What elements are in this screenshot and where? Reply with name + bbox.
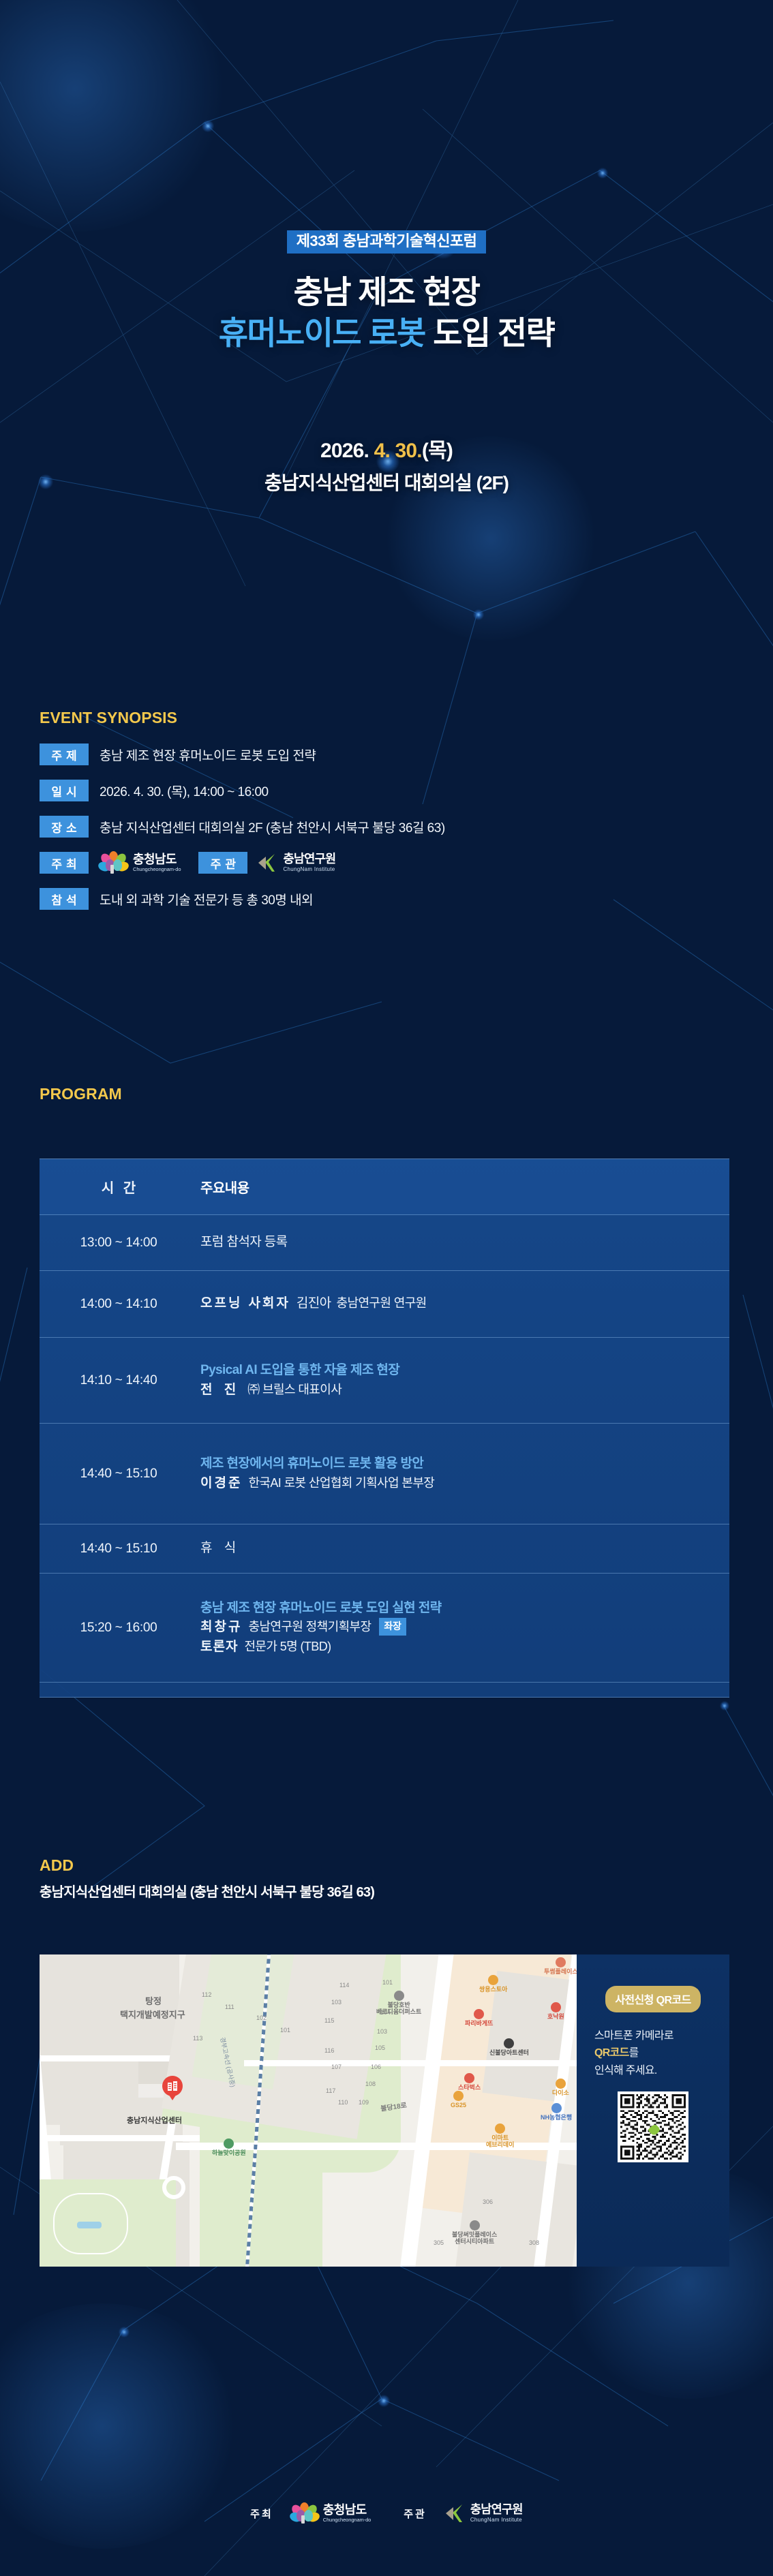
map-block-number: 111 — [225, 2004, 234, 2010]
synopsis-tag-subject: 주제 — [40, 743, 89, 765]
synopsis-row-place: 장소 충남 지식산업센터 대회의실 2F (충남 천안시 서북구 불당 36길 … — [40, 815, 735, 838]
list-item[interactable]: 쌍용스토아 — [479, 1975, 507, 1993]
poi-label: NH농협은행 — [541, 2114, 572, 2121]
program-time: 14:40 ~ 15:10 — [40, 1424, 198, 1524]
list-item[interactable]: 신불당아트센터 — [489, 2038, 529, 2056]
host-logo-en: Chungcheongnam-do — [133, 867, 181, 872]
program-line: 오프닝사회자김진아충남연구원 연구원 — [200, 1294, 725, 1314]
venue-text: 충남지식산업센터 대회의실 (2F) — [0, 470, 773, 496]
qr-instruction-line1: 스마트폰 카메라로 — [594, 2027, 729, 2044]
map-block-number: 306 — [483, 2198, 493, 2205]
synopsis-row-subject: 주제 충남 제조 현장 휴머노이드 로봇 도입 전략 — [40, 743, 735, 766]
date-year: 2026. — [320, 440, 374, 462]
map-block-number: 101 — [280, 2027, 290, 2034]
map-block-number: 103 — [377, 2028, 387, 2035]
program-speaker: 전 진㈜ 브릴스 대표이사 — [200, 1381, 725, 1400]
program-speaker-affiliation: ㈜ 브릴스 대표이사 — [247, 1383, 342, 1396]
poster-footer: 주최 충청남도 Chungcheongnam-do 주관 — [0, 2502, 773, 2524]
program-affiliation: 충남연구원 연구원 — [337, 1296, 427, 1310]
poi-label: 불당써밋플레이스센터시티아파트 — [452, 2231, 497, 2245]
host-logo-kr: 충청남도 — [133, 853, 181, 865]
table-row: 14:00 ~ 14:10 오프닝사회자김진아충남연구원 연구원 — [40, 1271, 729, 1338]
shop-icon — [556, 2079, 566, 2089]
poster-header: 제33회 충남과학기술혁신포럼 — [0, 230, 773, 254]
program-table-spacer-row — [40, 1683, 729, 1698]
chungnam-institute-mark-icon — [444, 2503, 465, 2524]
map-road-h2 — [40, 2135, 217, 2141]
map-block-number: 107 — [331, 2064, 342, 2070]
ci-mark-svg — [257, 853, 277, 873]
map-block-number: 110 — [338, 2099, 348, 2106]
map-block-number: 101 — [382, 1979, 393, 1986]
list-item[interactable]: 불당써밋플레이스센터시티아파트 — [452, 2220, 497, 2245]
program-time: 14:00 ~ 14:10 — [40, 1271, 198, 1337]
poi-label: 불당호반베르디움더퍼스트 — [376, 2002, 421, 2016]
program-topic: 제조 현장에서의 휴머노이드 로봇 활용 방안 — [200, 1454, 725, 1474]
bg-node-5 — [473, 609, 484, 620]
store-icon — [488, 1975, 498, 1985]
bg-node-9 — [119, 2327, 130, 2337]
program-col-header-time: 시 간 — [40, 1159, 198, 1214]
restaurant-icon — [551, 2002, 561, 2012]
qr-instruction-line3: 인식해 주세요. — [594, 2062, 729, 2079]
program-panel: 토론자전문가 5명 (TBD) — [200, 1638, 725, 1657]
map-block-number: 308 — [529, 2239, 539, 2246]
footer-host-logo-kr: 충청남도 — [323, 2504, 371, 2516]
qr-code-svg — [620, 2094, 686, 2160]
venue-map[interactable]: 탕정 택지개발예정지구 경부고속선 (공사중) 불당18로 불당18로 112 … — [40, 1954, 577, 2267]
list-item[interactable]: 하늘맞이공원 — [212, 2138, 246, 2156]
map-block-number: 112 — [202, 1991, 211, 1998]
synopsis-tag-host: 주최 — [40, 852, 89, 874]
poi-label: 호낙원 — [547, 2013, 564, 2020]
list-item[interactable]: 이마트에브리데이 — [486, 2123, 514, 2149]
title-rest: 도입 전략 — [425, 315, 554, 351]
program-content: 오프닝사회자김진아충남연구원 연구원 — [198, 1271, 729, 1337]
program-spacer-left — [40, 1683, 198, 1697]
poi-label: 쌍용스토아 — [479, 1986, 507, 1993]
map-block-number: 109 — [359, 2099, 369, 2106]
table-row: 14:40 ~ 15:10 휴 식 — [40, 1524, 729, 1574]
footer-organizer-tag: 주관 — [404, 2506, 427, 2521]
synopsis-section-title: EVENT SYNOPSIS — [40, 709, 177, 727]
qr-instruction-line2: QR코드를 — [594, 2044, 729, 2061]
map-block-number: 105 — [375, 2044, 385, 2051]
bakery-icon — [474, 2009, 484, 2019]
main-title-line1: 충남 제조 현장 — [0, 273, 773, 311]
qr-registration-panel: 사전신청 QR코드 스마트폰 카메라로 QR코드를 인식해 주세요. — [577, 1954, 729, 2267]
map-block-number: 103 — [331, 1999, 342, 2006]
footer-chungnam-institute-logo: 충남연구원 ChungNam Institute — [444, 2503, 523, 2524]
map-roundabout — [162, 2176, 185, 2199]
bg-glow-1 — [0, 0, 232, 232]
synopsis-tag-attendees: 참석 — [40, 888, 89, 910]
footer-organizer-logo-en: ChungNam Institute — [470, 2517, 523, 2523]
program-table: 시 간 주요내용 13:00 ~ 14:00 포럼 참석자 등록 14:00 ~… — [40, 1159, 729, 1698]
list-item[interactable]: 불당호반베르디움더퍼스트 — [376, 1991, 421, 2016]
venue-location-pin[interactable] — [162, 2076, 183, 2102]
date-weekday: (목) — [422, 440, 453, 462]
map-venue-label: 충남지식산업센터 — [127, 2115, 182, 2126]
synopsis-value-subject: 충남 제조 현장 휴머노이드 로봇 도입 전략 — [100, 746, 316, 764]
program-time: 14:40 ~ 15:10 — [40, 1524, 198, 1573]
program-topic: Pysical AI 도입을 통한 자율 제조 현장 — [200, 1361, 725, 1381]
coffee-icon — [464, 2073, 474, 2083]
list-item[interactable]: 스타벅스 — [458, 2073, 481, 2091]
map-block-number: 106 — [371, 2064, 381, 2070]
bank-icon — [551, 2103, 562, 2113]
poi-label: 스타벅스 — [458, 2084, 481, 2091]
map-block-number: 115 — [324, 2017, 334, 2024]
flower-icon — [291, 2502, 318, 2524]
program-section-title: PROGRAM — [40, 1085, 122, 1103]
program-time: 14:10 ~ 14:40 — [40, 1338, 198, 1423]
program-content: 충남 제조 현장 휴머노이드 로봇 도입 실현 전략 최창규충남연구원 정책기획… — [198, 1574, 729, 1682]
program-topic: 충남 제조 현장 휴머노이드 로봇 도입 실현 전략 — [200, 1599, 725, 1619]
footer-host-wordmark: 충청남도 Chungcheongnam-do — [323, 2504, 371, 2523]
apartment-icon — [394, 1991, 404, 2001]
address-line: 충남지식산업센터 대회의실 (충남 천안시 서북구 불당 36길 63) — [40, 1881, 374, 1901]
pin-tip-icon — [167, 2092, 178, 2100]
poi-label: 이마트에브리데이 — [486, 2134, 514, 2149]
synopsis-tag-organizer: 주관 — [198, 852, 247, 874]
qr-keyword-suffix: 를 — [629, 2047, 639, 2059]
program-col-header-content: 주요내용 — [198, 1159, 729, 1214]
program-person: 김진아 — [297, 1296, 331, 1310]
synopsis-block: 주제 충남 제조 현장 휴머노이드 로봇 도입 전략 일시 2026. 4. 3… — [40, 743, 735, 923]
program-speaker-name: 이경준 — [200, 1476, 242, 1490]
map-area-label-1: 탕정 — [145, 1994, 162, 2007]
park-icon — [224, 2138, 234, 2149]
building-icon — [167, 2081, 179, 2091]
footer-organizer-logo-kr: 충남연구원 — [470, 2504, 523, 2516]
qr-keyword: QR코드 — [594, 2047, 629, 2059]
program-line: 휴 식 — [200, 1539, 725, 1559]
program-speaker: 최창규충남연구원 정책기획부장좌장 — [200, 1618, 725, 1638]
qr-code-image[interactable] — [618, 2091, 688, 2162]
program-speaker-name: 전 진 — [200, 1383, 240, 1397]
program-speaker: 이경준한국AI 로봇 산업협회 기획사업 본부장 — [200, 1474, 725, 1494]
chungcheongnam-do-wordmark: 충청남도 Chungcheongnam-do — [133, 853, 181, 872]
list-item[interactable]: 호낙원 — [547, 2002, 564, 2020]
bg-node-8 — [378, 2395, 390, 2407]
program-content: 제조 현장에서의 휴머노이드 로봇 활용 방안 이경준한국AI 로봇 산업협회 … — [198, 1424, 729, 1524]
event-venue: 충남지식산업센터 대회의실 (2F) — [0, 470, 773, 496]
synopsis-tag-place: 장소 — [40, 816, 89, 838]
map-block-number: 116 — [324, 2047, 334, 2054]
table-row: 14:10 ~ 14:40 Pysical AI 도입을 통한 자율 제조 현장… — [40, 1338, 729, 1424]
program-speaker-affiliation: 한국AI 로봇 산업협회 기획사업 본부장 — [248, 1476, 434, 1490]
list-item[interactable]: 다이소 — [552, 2079, 569, 2096]
program-time: 13:00 ~ 14:00 — [40, 1215, 198, 1270]
map-block-right-3 — [455, 2152, 577, 2267]
poi-label: 파리바게뜨 — [465, 2020, 493, 2027]
bg-glow-2 — [382, 436, 600, 641]
map-park-path — [53, 2193, 128, 2254]
poi-label: 신불당아트센터 — [489, 2049, 529, 2056]
organizer-logo-en: ChungNam Institute — [283, 867, 335, 872]
program-time: 15:20 ~ 16:00 — [40, 1574, 198, 1682]
program-panel-detail: 전문가 5명 (TBD) — [244, 1640, 331, 1653]
footer-host-tag: 주최 — [250, 2506, 273, 2521]
ci-mark-svg — [444, 2503, 465, 2524]
program-content: 포럼 참석자 등록 — [198, 1215, 729, 1270]
bg-node-2 — [202, 120, 214, 132]
qr-pill-label: 사전신청 QR코드 — [605, 1986, 700, 2012]
program-line: 포럼 참석자 등록 — [200, 1233, 725, 1253]
status-badge: 좌장 — [379, 1618, 406, 1636]
apartment-icon — [470, 2220, 480, 2230]
organizer-logo-kr: 충남연구원 — [283, 853, 335, 865]
chungnam-institute-wordmark: 충남연구원 ChungNam Institute — [283, 853, 335, 873]
title-highlight: 휴머노이드 로봇 — [219, 315, 425, 351]
synopsis-row-attendees: 참석 도내 외 과학 기술 전문가 등 총 30명 내외 — [40, 887, 735, 910]
map-block-number: 117 — [326, 2087, 335, 2094]
footer-organizer-wordmark: 충남연구원 ChungNam Institute — [470, 2504, 523, 2524]
cafe-icon — [556, 1957, 566, 1967]
map-road-h4 — [244, 2060, 577, 2066]
chungcheongnam-do-logo: 충청남도 Chungcheongnam-do — [100, 851, 181, 874]
map-area-label-2: 택지개발예정지구 — [120, 2008, 185, 2021]
program-role: 사회자 — [248, 1296, 290, 1310]
program-table-header-row: 시 간 주요내용 — [40, 1159, 729, 1215]
bg-node-10 — [720, 1701, 729, 1711]
program-spacer-right — [198, 1683, 729, 1697]
synopsis-row-datetime: 일시 2026. 4. 30. (목), 14:00 ~ 16:00 — [40, 779, 735, 802]
theater-icon — [504, 2038, 514, 2049]
program-speaker-name: 최창규 — [200, 1620, 242, 1634]
synopsis-value-place: 충남 지식산업센터 대회의실 2F (충남 천안시 서북구 불당 36길 63) — [100, 818, 445, 836]
poi-label: GS25 — [451, 2102, 466, 2109]
title-text-line2: 휴머노이드 로봇 도입 전략 — [0, 313, 773, 352]
poi-label: 하늘맞이공원 — [212, 2149, 246, 2156]
chungnam-institute-mark-icon — [257, 853, 277, 873]
date-monthday: 4. 30. — [374, 440, 422, 462]
synopsis-value-datetime: 2026. 4. 30. (목), 14:00 ~ 16:00 — [100, 782, 269, 800]
program-content: Pysical AI 도입을 통한 자율 제조 현장 전 진㈜ 브릴스 대표이사 — [198, 1338, 729, 1423]
map-block-number: 102 — [256, 2014, 267, 2021]
table-row: 14:40 ~ 15:10 제조 현장에서의 휴머노이드 로봇 활용 방안 이경… — [40, 1424, 729, 1524]
title-text-line1: 충남 제조 현장 — [0, 273, 773, 311]
qr-instructions: 스마트폰 카메라로 QR코드를 인식해 주세요. — [577, 2027, 729, 2079]
supermarket-icon — [495, 2123, 505, 2134]
main-title-line2: 휴머노이드 로봇 도입 전략 — [0, 313, 773, 352]
synopsis-value-attendees: 도내 외 과학 기술 전문가 등 총 30명 내외 — [100, 890, 313, 908]
list-item[interactable]: 투썸플레이스 — [544, 1957, 577, 1975]
map-block-number: 305 — [434, 2239, 444, 2246]
map-block-number: 108 — [365, 2081, 376, 2087]
program-speaker-affiliation: 충남연구원 정책기획부장 — [248, 1620, 371, 1634]
program-content: 휴 식 — [198, 1524, 729, 1573]
program-panel-label: 토론자 — [200, 1640, 238, 1654]
table-row: 15:20 ~ 16:00 충남 제조 현장 휴머노이드 로봇 도입 실현 전략… — [40, 1574, 729, 1683]
host-organizer-logos: 충청남도 Chungcheongnam-do 주관 충남연구원 Chun — [100, 851, 335, 874]
address-section-title: ADD — [40, 1856, 74, 1875]
poster-root: 제33회 충남과학기술혁신포럼 충남 제조 현장 휴머노이드 로봇 도입 전략 … — [0, 0, 773, 2576]
list-item[interactable]: 파리바게뜨 — [465, 2009, 493, 2027]
list-item[interactable]: GS25 — [451, 2091, 466, 2109]
table-row: 13:00 ~ 14:00 포럼 참석자 등록 — [40, 1215, 729, 1271]
date-text: 2026. 4. 30.(목) — [0, 438, 773, 465]
program-session-name: 오프닝 — [200, 1296, 242, 1310]
synopsis-tag-datetime: 일시 — [40, 780, 89, 801]
footer-host-logo-en: Chungcheongnam-do — [323, 2517, 371, 2523]
synopsis-row-hosts: 주최 충청남도 Chungcheongnam- — [40, 851, 735, 874]
bg-node-3 — [597, 168, 608, 179]
footer-chungcheongnam-do-logo: 충청남도 Chungcheongnam-do — [291, 2502, 371, 2524]
poi-label: 다이소 — [552, 2089, 569, 2096]
map-block-number: 113 — [193, 2035, 202, 2042]
event-date: 2026. 4. 30.(목) — [0, 438, 773, 465]
flower-icon — [100, 851, 128, 874]
forum-edition-badge: 제33회 충남과학기술혁신포럼 — [287, 230, 486, 254]
list-item[interactable]: NH농협은행 — [541, 2103, 572, 2121]
convenience-store-icon — [453, 2091, 464, 2101]
map-block-number: 114 — [339, 1982, 349, 1989]
chungnam-institute-logo: 충남연구원 ChungNam Institute — [257, 853, 335, 873]
poi-label: 투썸플레이스 — [544, 1968, 577, 1975]
